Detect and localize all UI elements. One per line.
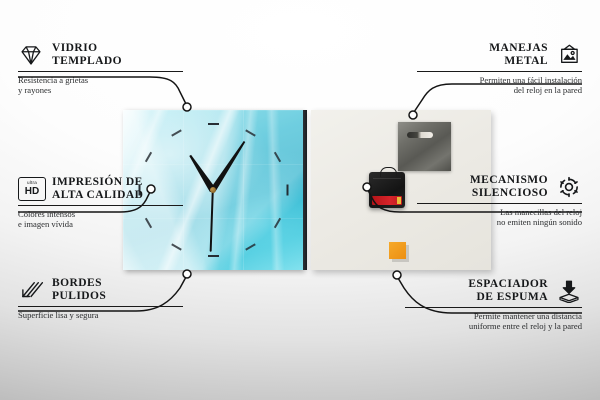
callout-bordes-pulidos: BORDES PULIDOS Superficie lisa y segura (18, 277, 183, 320)
clock-tick (208, 123, 219, 125)
clock-tick (245, 244, 256, 251)
callout-espaciador-espuma: ESPACIADOR DE ESPUMA Permite mantener un… (405, 278, 582, 332)
clock-tick (273, 152, 280, 163)
hd-icon-large-text: HD (25, 187, 39, 197)
foam-spacer-pad (389, 242, 406, 259)
callout-title: BORDES PULIDOS (52, 277, 106, 303)
picture-frame-icon (556, 43, 582, 67)
infographic-canvas: VIDRIO TEMPLADO Resistencia a grietas y … (0, 0, 600, 400)
clock-tick (208, 255, 219, 257)
clock-tick (273, 218, 280, 229)
quartz-mechanism (369, 172, 405, 208)
battery (372, 196, 402, 205)
ultra-hd-icon: ultra HD (18, 177, 44, 201)
callout-divider (417, 203, 582, 204)
clock-tick (171, 244, 182, 251)
clock-tick (145, 152, 152, 163)
leader-dot-bordes-pulidos (183, 270, 191, 278)
callout-subtitle: Superficie lisa y segura (18, 310, 183, 320)
diagonal-lines-icon (18, 278, 44, 302)
callout-subtitle: Permite mantener una distancia uniforme … (405, 311, 582, 332)
clock-second-hand (210, 190, 214, 252)
hanger-keyhole-slot (407, 132, 433, 138)
callout-impresion-alta-calidad: ultra HD IMPRESIÓN DE ALTA CALIDAD Color… (18, 176, 183, 230)
callout-title: MECANISMO SILENCIOSO (470, 174, 548, 200)
arrow-down-layers-icon (556, 279, 582, 303)
clock-tick (171, 129, 182, 136)
leader-dot-espaciador-espuma (393, 271, 401, 279)
callout-divider (18, 205, 183, 206)
callout-title: ESPACIADOR DE ESPUMA (468, 278, 548, 304)
callout-title: IMPRESIÓN DE ALTA CALIDAD (52, 176, 143, 202)
callout-mecanismo-silencioso: MECANISMO SILENCIOSO Las manecillas del … (417, 174, 582, 228)
callout-subtitle: Resistencia a grietas y rayones (18, 75, 183, 96)
callout-divider (18, 71, 183, 72)
callout-divider (405, 307, 582, 308)
callout-vidrio-templado: VIDRIO TEMPLADO Resistencia a grietas y … (18, 42, 183, 96)
diamond-icon (18, 43, 44, 67)
clock-center-hub (210, 187, 216, 193)
callout-divider (417, 71, 582, 72)
clock-minute-hand (210, 140, 247, 192)
clock-tick (286, 185, 288, 196)
callout-title: VIDRIO TEMPLADO (52, 42, 122, 68)
mechanism-detail (373, 178, 401, 192)
gear-icon (556, 175, 582, 199)
callout-subtitle: Permiten una fácil instalación del reloj… (417, 75, 582, 96)
callout-manejas-metal: MANEJAS METAL Permiten una fácil instala… (417, 42, 582, 96)
metal-hanger-plate (398, 122, 451, 171)
glass-edge (303, 110, 307, 270)
callout-subtitle: Colores intensos e imagen vívida (18, 209, 183, 230)
callout-divider (18, 306, 183, 307)
callout-subtitle: Las manecillas del reloj no emiten ningú… (417, 207, 582, 228)
callout-title: MANEJAS METAL (489, 42, 548, 68)
clock-tick (245, 129, 256, 136)
mechanism-bail (380, 167, 397, 177)
